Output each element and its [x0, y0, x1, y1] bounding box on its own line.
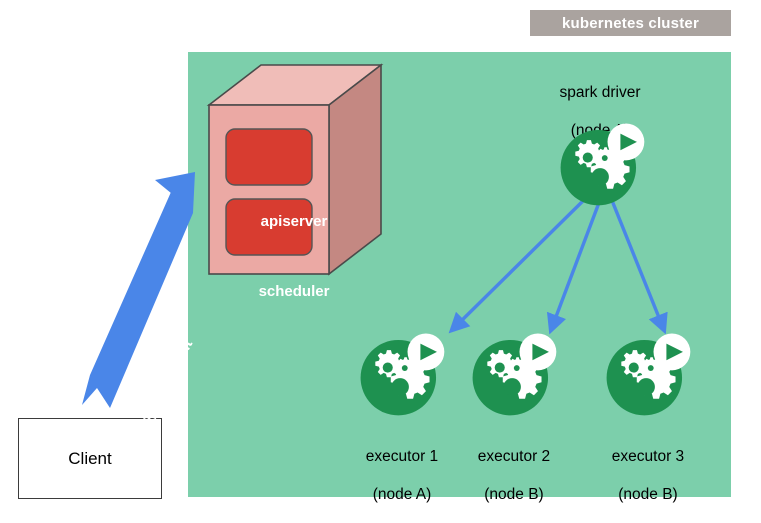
executor-3-node-icon[interactable]	[602, 328, 694, 420]
gears-play-icon	[556, 118, 648, 210]
apiserver-label: apiserver	[236, 213, 352, 230]
executor-2-label-line1: executor 2	[444, 447, 584, 466]
spark-submit-arrow: spark-submit	[55, 165, 205, 415]
gears-play-icon	[468, 328, 560, 420]
executor-2-label: executor 2 (node B)	[444, 428, 584, 523]
executor-2-label-line2: (node B)	[444, 485, 584, 504]
gears-play-icon	[602, 328, 694, 420]
spark-driver-node-icon[interactable]	[556, 118, 648, 210]
gears-play-icon	[356, 328, 448, 420]
kubernetes-cluster-label: kubernetes cluster	[530, 10, 731, 36]
spark-driver-label-line1: spark driver	[530, 83, 670, 102]
executor-3-label-line2: (node B)	[578, 485, 718, 504]
spark-submit-arrow-shape	[55, 165, 205, 415]
client-label: Client	[68, 449, 111, 469]
client-box[interactable]: Client	[18, 418, 162, 499]
executor-2-node-icon[interactable]	[468, 328, 560, 420]
executor-1-node-icon[interactable]	[356, 328, 448, 420]
diagram-canvas: kubernetes cluster Client apiserver sche…	[0, 0, 761, 516]
cube-shape	[205, 62, 385, 277]
control-plane-cube: apiserver scheduler	[205, 62, 385, 277]
executor-3-label: executor 3 (node B)	[578, 428, 718, 523]
executor-3-label-line1: executor 3	[578, 447, 718, 466]
scheduler-label: scheduler	[236, 283, 352, 300]
